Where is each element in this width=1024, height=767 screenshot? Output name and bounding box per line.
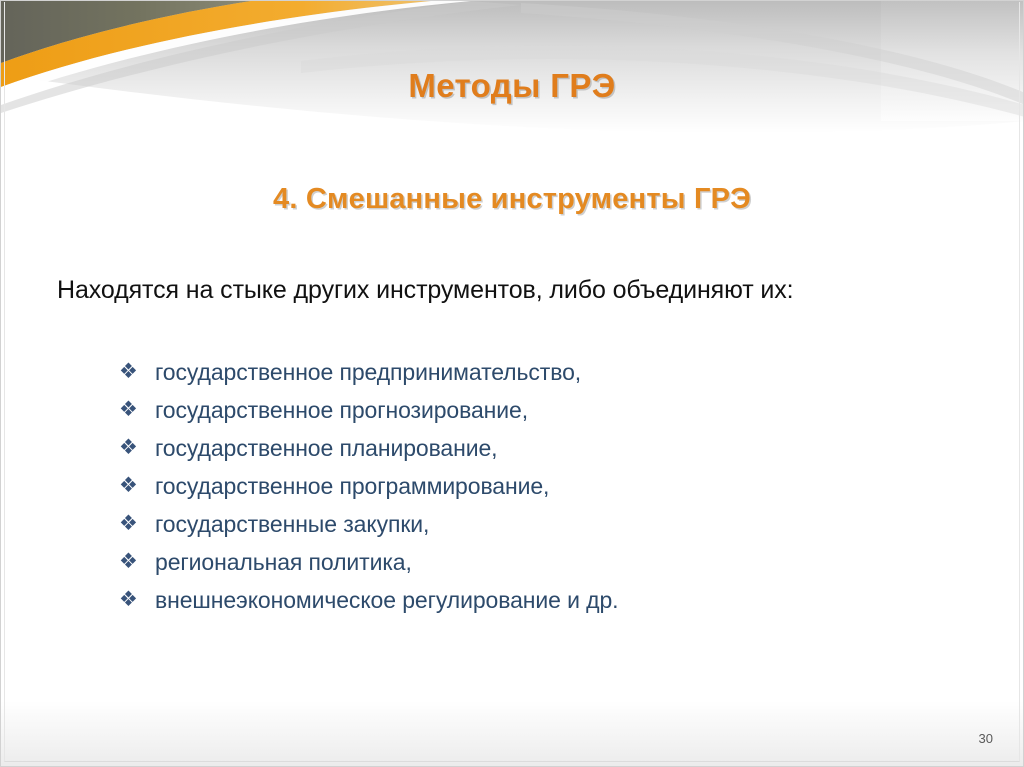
page-number: 30 bbox=[979, 731, 993, 746]
slide-title: Методы ГРЭ bbox=[1, 67, 1023, 105]
list-item: ❖ государственное программирование, bbox=[119, 467, 618, 505]
list-item-label: государственные закупки, bbox=[155, 505, 429, 543]
list-item: ❖ государственное планирование, bbox=[119, 429, 618, 467]
list-item-label: государственное прогнозирование, bbox=[155, 391, 528, 429]
list-item-label: государственное предпринимательство, bbox=[155, 353, 581, 391]
list-item: ❖ государственное предпринимательство, bbox=[119, 353, 618, 391]
slide-content: Методы ГРЭ 4. Смешанные инструменты ГРЭ … bbox=[1, 1, 1023, 766]
diamond-bullet-icon: ❖ bbox=[119, 581, 155, 619]
list-item: ❖ государственные закупки, bbox=[119, 505, 618, 543]
list-item-label: внешнеэкономическое регулирование и др. bbox=[155, 581, 618, 619]
list-item: ❖ внешнеэкономическое регулирование и др… bbox=[119, 581, 618, 619]
slide-subtitle: 4. Смешанные инструменты ГРЭ bbox=[1, 183, 1023, 216]
presentation-slide: Методы ГРЭ 4. Смешанные инструменты ГРЭ … bbox=[0, 0, 1024, 767]
list-item-label: государственное планирование, bbox=[155, 429, 497, 467]
intro-paragraph: Находятся на стыке других инструментов, … bbox=[57, 276, 794, 305]
diamond-bullet-icon: ❖ bbox=[119, 467, 155, 505]
diamond-bullet-icon: ❖ bbox=[119, 543, 155, 581]
list-item-label: государственное программирование, bbox=[155, 467, 549, 505]
list-item-label: региональная политика, bbox=[155, 543, 412, 581]
diamond-bullet-icon: ❖ bbox=[119, 429, 155, 467]
list-item: ❖ региональная политика, bbox=[119, 543, 618, 581]
bullet-list: ❖ государственное предпринимательство, ❖… bbox=[119, 353, 618, 619]
list-item: ❖ государственное прогнозирование, bbox=[119, 391, 618, 429]
diamond-bullet-icon: ❖ bbox=[119, 353, 155, 391]
diamond-bullet-icon: ❖ bbox=[119, 505, 155, 543]
diamond-bullet-icon: ❖ bbox=[119, 391, 155, 429]
